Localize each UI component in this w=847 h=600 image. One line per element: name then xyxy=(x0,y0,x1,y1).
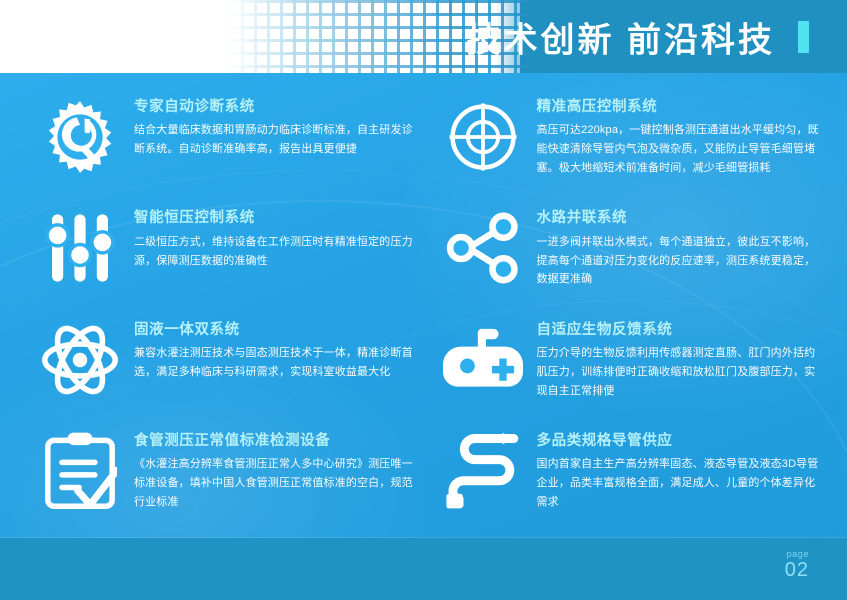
feature-text: 食管测压正常值标准检测设备 《水灌注高分辨率食管测压正常人多中心研究》测压唯一标… xyxy=(134,425,417,512)
feature-text: 水路并联系统 一进多阀并联出水模式，每个通道独立，彼此互不影响，提高每个通道对压… xyxy=(537,202,820,289)
feature-description: 结合大量临床数据和胃肠动力临床诊断标准，自主研发诊断系统。自动诊断准确率高，报告… xyxy=(134,121,417,159)
feature-title: 专家自动诊断系统 xyxy=(134,99,417,116)
feature-text: 智能恒压控制系统 二级恒压方式，维持设备在工作测压时有精准恒定的压力源，保障测压… xyxy=(134,202,417,270)
page-title: 技术创新 前沿科技 xyxy=(467,12,775,61)
sliders-icon xyxy=(26,202,134,294)
features-grid: 专家自动诊断系统 结合大量临床数据和胃肠动力临床诊断标准，自主研发诊断系统。自动… xyxy=(0,73,847,538)
feature-description: 《水灌注高分辨率食管测压正常人多中心研究》测压唯一标准设备，填补中国人食管测压正… xyxy=(134,455,417,512)
feature-item: 自适应生物反馈系统 压力介导的生物反馈利用传感器测定直肠、肛门内外括约肌压力，训… xyxy=(429,310,826,421)
gamepad-icon xyxy=(429,314,537,406)
catheter-tube-icon xyxy=(429,425,537,517)
footer-divider xyxy=(0,537,847,538)
feature-item: 智能恒压控制系统 二级恒压方式，维持设备在工作测压时有精准恒定的压力源，保障测压… xyxy=(26,198,423,309)
feature-title: 固液一体双系统 xyxy=(134,322,417,339)
feature-text: 多品类规格导管供应 国内首家自主生产高分辨率固态、液态导管及液态3D导管企业，品… xyxy=(537,425,820,512)
target-crosshair-icon xyxy=(429,91,537,183)
feature-description: 压力介导的生物反馈利用传感器测定直肠、肛门内外括约肌压力，训练排便时正确收缩和放… xyxy=(537,344,820,401)
feature-item: 固液一体双系统 兼容水灌注测压技术与固态测压技术于一体，精准诊断首选，满足多种临… xyxy=(26,310,423,421)
feature-description: 兼容水灌注测压技术与固态测压技术于一体，精准诊断首选，满足多种临床与科研需求，实… xyxy=(134,344,417,382)
footer-bar: page 02 xyxy=(0,538,847,600)
feature-title: 食管测压正常值标准检测设备 xyxy=(134,433,417,450)
feature-description: 国内首家自主生产高分辨率固态、液态导管及液态3D导管企业，品类丰富规格全面，满足… xyxy=(537,455,820,512)
feature-item: 多品类规格导管供应 国内首家自主生产高分辨率固态、液态导管及液态3D导管企业，品… xyxy=(429,421,826,532)
header-accent-bar xyxy=(798,21,809,53)
gear-search-icon xyxy=(26,91,134,183)
atom-icon xyxy=(26,314,134,406)
clipboard-check-icon xyxy=(26,425,134,517)
feature-title: 多品类规格导管供应 xyxy=(537,433,820,450)
feature-title: 水路并联系统 xyxy=(537,210,820,227)
share-network-icon xyxy=(429,202,537,294)
page-number: 02 xyxy=(749,559,809,582)
feature-text: 专家自动诊断系统 结合大量临床数据和胃肠动力临床诊断标准，自主研发诊断系统。自动… xyxy=(134,91,417,159)
feature-text: 固液一体双系统 兼容水灌注测压技术与固态测压技术于一体，精准诊断首选，满足多种临… xyxy=(134,314,417,382)
feature-item: 专家自动诊断系统 结合大量临床数据和胃肠动力临床诊断标准，自主研发诊断系统。自动… xyxy=(26,87,423,198)
feature-text: 精准高压控制系统 高压可达220kpa，一键控制各测压通道出水平缓均匀，既能快速… xyxy=(537,91,820,178)
feature-text: 自适应生物反馈系统 压力介导的生物反馈利用传感器测定直肠、肛门内外括约肌压力，训… xyxy=(537,314,820,401)
feature-item: 精准高压控制系统 高压可达220kpa，一键控制各测压通道出水平缓均匀，既能快速… xyxy=(429,87,826,198)
feature-description: 高压可达220kpa，一键控制各测压通道出水平缓均匀，既能快速清除导管内气泡及微… xyxy=(537,121,820,178)
feature-description: 二级恒压方式，维持设备在工作测压时有精准恒定的压力源，保障测压数据的准确性 xyxy=(134,233,417,271)
feature-item: 食管测压正常值标准检测设备 《水灌注高分辨率食管测压正常人多中心研究》测压唯一标… xyxy=(26,421,423,532)
header-bar: 技术创新 前沿科技 xyxy=(0,0,847,73)
feature-item: 水路并联系统 一进多阀并联出水模式，每个通道独立，彼此互不影响，提高每个通道对压… xyxy=(429,198,826,309)
feature-description: 一进多阀并联出水模式，每个通道独立，彼此互不影响，提高每个通道对压力变化的反应速… xyxy=(537,233,820,290)
page-label: page xyxy=(749,549,809,559)
feature-title: 精准高压控制系统 xyxy=(537,99,820,116)
feature-title: 智能恒压控制系统 xyxy=(134,210,417,227)
slide-root: 技术创新 前沿科技 专家自动诊断系统 结合大量临床数据和胃肠动力临床诊断标准，自… xyxy=(0,0,847,600)
feature-title: 自适应生物反馈系统 xyxy=(537,322,820,339)
